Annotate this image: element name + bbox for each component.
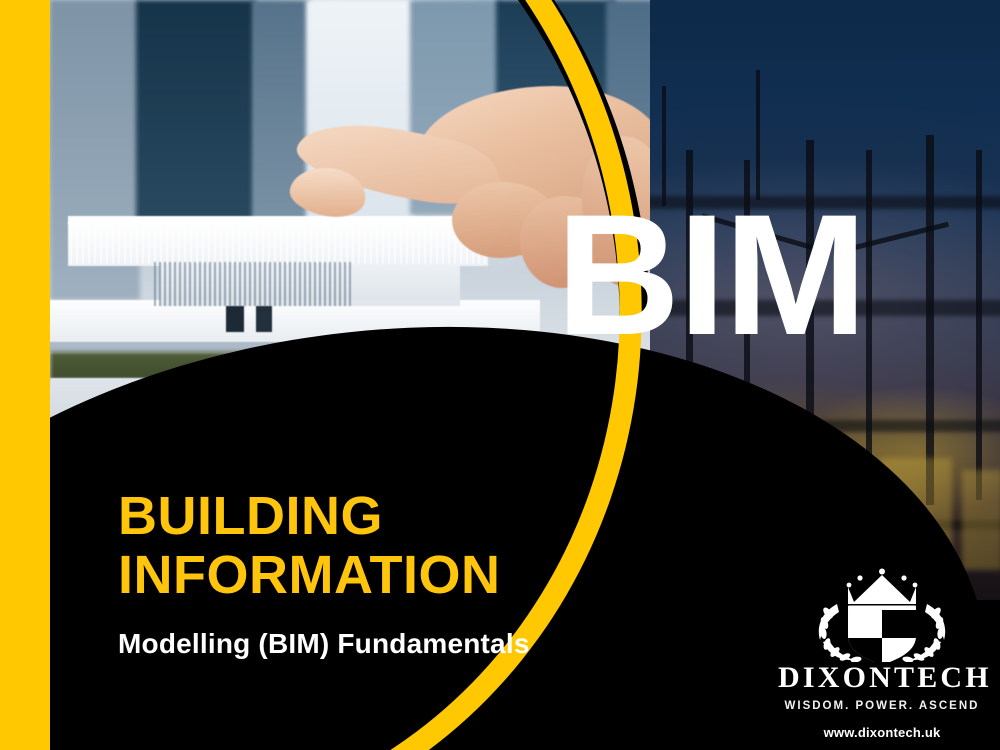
title-block: BUILDING INFORMATION Modelling (BIM) Fun… xyxy=(118,487,678,660)
headline-acronym: BIM xyxy=(556,196,865,354)
logo-website-url: www.dixontech.uk xyxy=(778,725,986,740)
logo-mark-svg xyxy=(782,566,982,662)
yellow-left-bar xyxy=(0,0,50,750)
crown-icon xyxy=(847,569,918,611)
subtitle: Modelling (BIM) Fundamentals xyxy=(118,628,678,660)
brand-logo: DIXONTECH WISDOM. POWER. ASCEND www.dixo… xyxy=(778,566,986,740)
logo-wordmark: DIXONTECH xyxy=(778,663,986,693)
shield-quartered-icon xyxy=(844,606,922,662)
title-line-2: INFORMATION xyxy=(118,546,678,605)
banner-canvas: BIM BUILDING INFORMATION Modelling (BIM)… xyxy=(0,0,1000,750)
logo-tagline: WISDOM. POWER. ASCEND xyxy=(778,700,986,712)
title-line-1: BUILDING xyxy=(118,487,678,546)
